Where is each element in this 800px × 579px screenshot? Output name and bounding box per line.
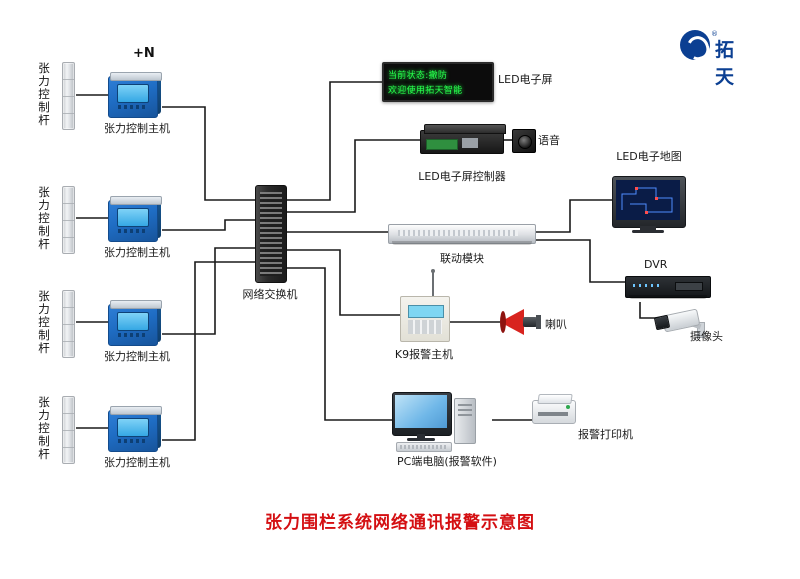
- tension-host-2: [108, 196, 162, 242]
- pc-workstation: [392, 392, 488, 452]
- diagram-canvas: ® 拓天 +N 张力控制杆 张力控制杆 张力控制杆 张力控制杆 张力控制主机 张…: [0, 0, 800, 579]
- network-switch: [255, 185, 287, 283]
- led-controller: [420, 124, 504, 154]
- speaker-icon: [518, 135, 532, 149]
- logo-mark-icon: [680, 30, 710, 60]
- k9-alarm-host: [400, 296, 450, 342]
- tension-pole-1: [62, 62, 75, 130]
- diagram-title: 张力围栏系统网络通讯报警示意图: [0, 508, 800, 533]
- pc-label: PC端电脑(报警软件): [372, 455, 522, 469]
- tension-host-1: [108, 72, 162, 118]
- linkage-module: [388, 224, 536, 246]
- led-line-1: 当前状态:撤防: [388, 68, 488, 81]
- pole-label-3: 张力控制杆: [37, 290, 51, 354]
- antenna-icon: [432, 272, 434, 298]
- voice-label: 语音: [538, 134, 560, 148]
- tension-host-label-1: 张力控制主机: [104, 122, 170, 136]
- linkage-module-label: 联动模块: [404, 252, 520, 266]
- tension-host-label-4: 张力控制主机: [104, 456, 170, 470]
- tension-host-label-3: 张力控制主机: [104, 350, 170, 364]
- k9-alarm-label: K9报警主机: [386, 348, 462, 362]
- led-display-screen: 当前状态:撤防 欢迎使用拓天智能: [382, 62, 494, 102]
- tension-pole-4: [62, 396, 75, 464]
- pole-label-1: 张力控制杆: [37, 62, 51, 126]
- dvr-unit: [625, 276, 711, 302]
- plus-n-label: +N: [133, 46, 155, 61]
- pole-label-2: 张力控制杆: [37, 186, 51, 250]
- tension-host-4: [108, 406, 162, 452]
- voice-module: [512, 129, 536, 153]
- camera-label: 摄像头: [690, 330, 723, 344]
- led-line-2: 欢迎使用拓天智能: [388, 83, 488, 96]
- printer-label: 报警打印机: [578, 428, 633, 442]
- dvr-label: DVR: [644, 258, 667, 272]
- tension-pole-3: [62, 290, 75, 358]
- logo-text: 拓天: [715, 35, 735, 89]
- tension-host-label-2: 张力控制主机: [104, 246, 170, 260]
- horn-label: 喇叭: [545, 318, 567, 332]
- switch-ports: [260, 192, 282, 276]
- led-map-label: LED电子地图: [606, 150, 692, 164]
- horn-speaker: [500, 309, 546, 335]
- led-controller-label: LED电子屏控制器: [388, 170, 536, 184]
- pole-label-4: 张力控制杆: [37, 396, 51, 460]
- alarm-printer: [532, 392, 576, 426]
- network-switch-label: 网络交换机: [222, 288, 318, 302]
- led-screen-label: LED电子屏: [498, 73, 553, 87]
- led-map-monitor: [612, 176, 686, 234]
- led-map-screen: [616, 180, 680, 220]
- tension-pole-2: [62, 186, 75, 254]
- tension-host-3: [108, 300, 162, 346]
